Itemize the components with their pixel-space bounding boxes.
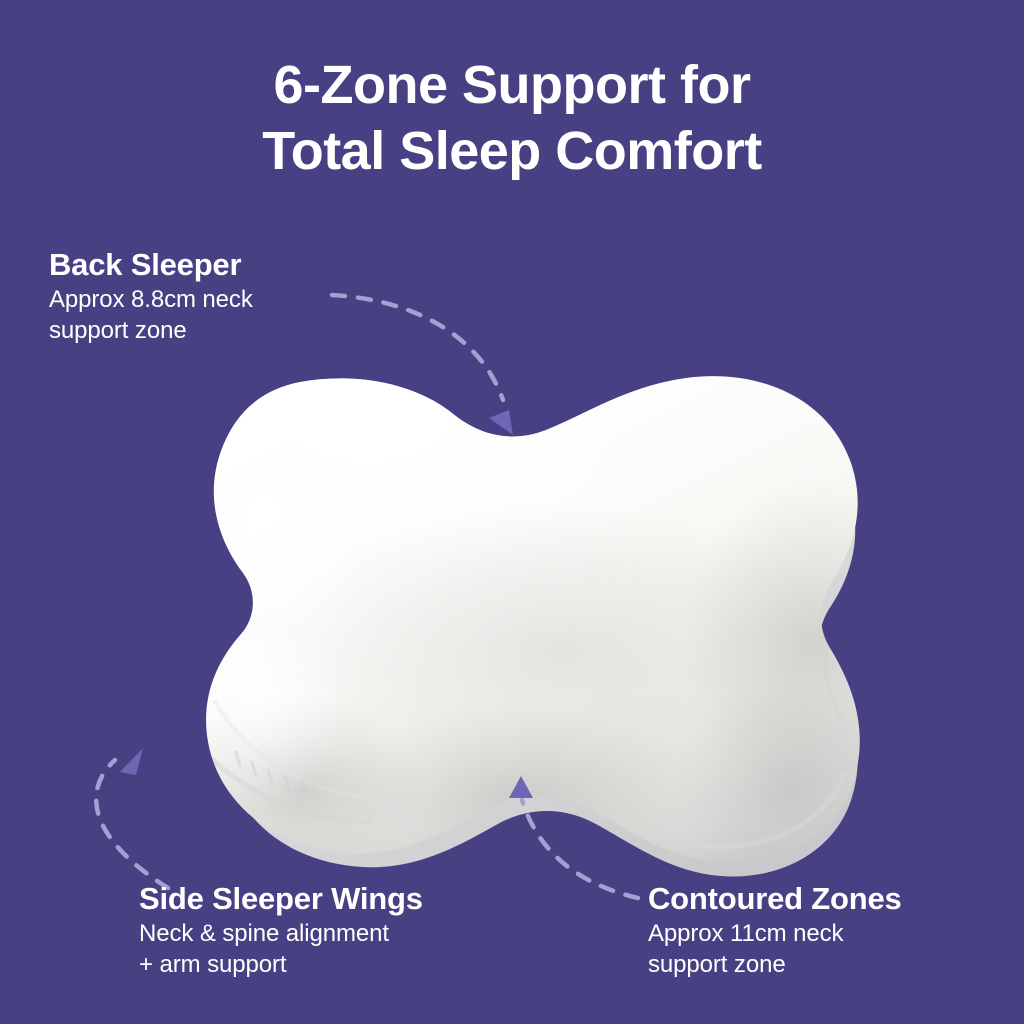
callout-title: Back Sleeper xyxy=(49,246,253,284)
callout-contoured-zones: Contoured Zones Approx 11cm neck support… xyxy=(648,880,902,980)
arrow-side-sleeper-wings xyxy=(96,748,168,888)
callout-title: Side Sleeper Wings xyxy=(139,880,423,918)
pillow-body xyxy=(130,330,942,900)
infographic-canvas: 6-Zone Support for Total Sleep Comfort xyxy=(0,0,1024,1024)
page-title: 6-Zone Support for Total Sleep Comfort xyxy=(0,52,1024,184)
callout-subtitle-line-1: Approx 8.8cm neck xyxy=(49,284,253,315)
headline-line-2: Total Sleep Comfort xyxy=(0,118,1024,184)
headline-line-1: 6-Zone Support for xyxy=(0,52,1024,118)
callout-subtitle-line-1: Neck & spine alignment xyxy=(139,918,423,949)
callout-back-sleeper: Back Sleeper Approx 8.8cm neck support z… xyxy=(49,246,253,346)
callout-subtitle-line-1: Approx 11cm neck xyxy=(648,918,902,949)
arrow-contoured-zones xyxy=(509,776,638,898)
callout-subtitle-line-2: support zone xyxy=(648,949,902,980)
callout-title: Contoured Zones xyxy=(648,880,902,918)
arrow-back-sleeper xyxy=(332,295,513,435)
callout-side-sleeper-wings: Side Sleeper Wings Neck & spine alignmen… xyxy=(139,880,423,980)
callout-subtitle-line-2: + arm support xyxy=(139,949,423,980)
callout-subtitle-line-2: support zone xyxy=(49,315,253,346)
pillow-base-layer xyxy=(223,408,858,876)
